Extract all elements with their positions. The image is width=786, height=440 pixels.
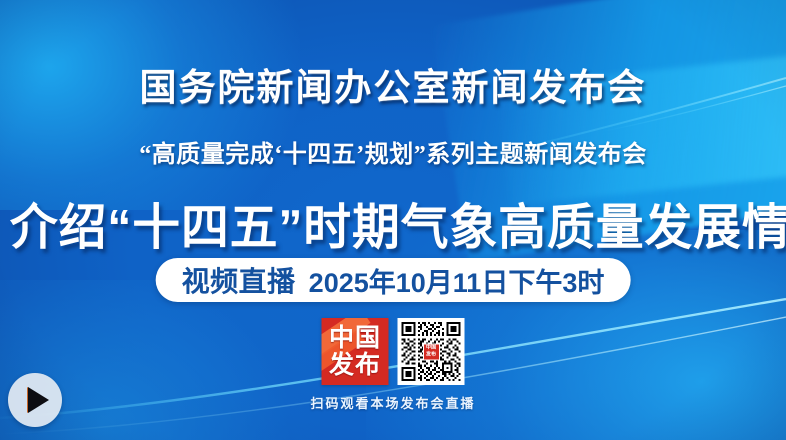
logo-text-line2: 发布 (329, 352, 381, 379)
live-badge-label: 视频直播 (182, 260, 296, 300)
brand-and-qr-row: 中国 发布 (322, 318, 465, 385)
live-broadcast-badge[interactable]: 视频直播 2025年10月11日下午3时 (156, 258, 631, 302)
qr-center-line1: 中国 (426, 345, 436, 351)
play-triangle-icon (28, 387, 49, 413)
live-badge-datetime: 2025年10月11日下午3时 (309, 261, 605, 300)
qr-center-line2: 发布 (426, 352, 436, 358)
series-subtitle: “高质量完成‘十四五’规划”系列主题新闻发布会 (0, 134, 786, 169)
qr-code[interactable]: 中国 发布 (398, 318, 465, 385)
press-conference-poster: 国务院新闻办公室新闻发布会 “高质量完成‘十四五’规划”系列主题新闻发布会 介绍… (0, 0, 786, 440)
poster-content: 国务院新闻办公室新闻发布会 “高质量完成‘十四五’规划”系列主题新闻发布会 介绍… (0, 0, 786, 440)
logo-text-line1: 中国 (329, 325, 381, 352)
scan-caption: 扫码观看本场发布会直播 (0, 393, 786, 412)
page-title: 介绍“十四五”时期气象高质量发展情况 (10, 188, 776, 259)
qr-center-logo: 中国 发布 (423, 343, 440, 360)
organizer-title: 国务院新闻办公室新闻发布会 (0, 57, 786, 111)
play-button[interactable] (8, 373, 62, 427)
china-release-logo: 中国 发布 (322, 318, 389, 385)
